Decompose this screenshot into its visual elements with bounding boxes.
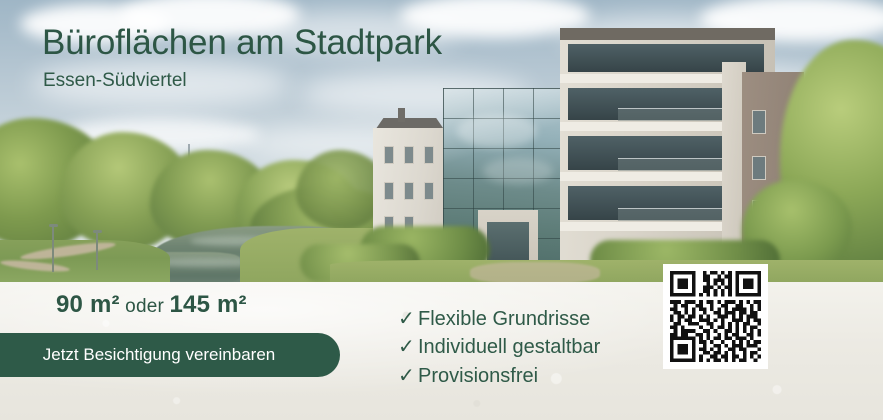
- roof-slab: [560, 28, 775, 40]
- list-item: ✓Individuell gestaltbar: [398, 333, 600, 361]
- check-icon: ✓: [398, 305, 418, 333]
- lamp-post: [52, 226, 54, 272]
- lamp-head: [93, 230, 102, 233]
- lawn: [330, 260, 883, 284]
- qr-code-container[interactable]: [663, 264, 768, 369]
- walkway: [470, 262, 600, 284]
- window: [384, 182, 394, 200]
- window: [424, 146, 434, 164]
- check-icon: ✓: [398, 333, 418, 361]
- window: [404, 146, 414, 164]
- schedule-viewing-label: Jetzt Besichtigung vereinbaren: [43, 345, 275, 365]
- window: [384, 146, 394, 164]
- chimney: [398, 108, 405, 122]
- schedule-viewing-button[interactable]: Jetzt Besichtigung vereinbaren: [0, 333, 340, 377]
- qr-code[interactable]: [670, 271, 761, 362]
- page-title: Büroflächen am Stadtpark: [42, 25, 442, 62]
- list-item: ✓Flexible Grundrisse: [398, 305, 600, 333]
- size-separator: oder: [120, 296, 170, 317]
- window: [752, 110, 766, 134]
- window: [424, 182, 434, 200]
- lamp-post: [96, 232, 98, 270]
- feature-list: ✓Flexible Grundrisse ✓Individuell gestal…: [398, 305, 600, 390]
- window: [404, 182, 414, 200]
- size-info: 90 m² oder 145 m²: [56, 291, 247, 319]
- real-estate-banner: Büroflächen am Stadtpark Essen-Südvierte…: [0, 0, 883, 420]
- lamp-head: [49, 224, 58, 227]
- feature-label: Provisionsfrei: [418, 365, 538, 387]
- feature-label: Flexible Grundrisse: [418, 308, 590, 330]
- glass-reflection: [457, 114, 537, 148]
- size-primary: 90 m²: [56, 291, 120, 318]
- page-subtitle: Essen-Südviertel: [43, 70, 187, 92]
- list-item: ✓Provisionsfrei: [398, 362, 600, 390]
- size-secondary: 145 m²: [170, 291, 247, 318]
- window: [752, 156, 766, 180]
- glass-reflection: [483, 158, 553, 184]
- feature-label: Individuell gestaltbar: [418, 336, 600, 358]
- check-icon: ✓: [398, 362, 418, 390]
